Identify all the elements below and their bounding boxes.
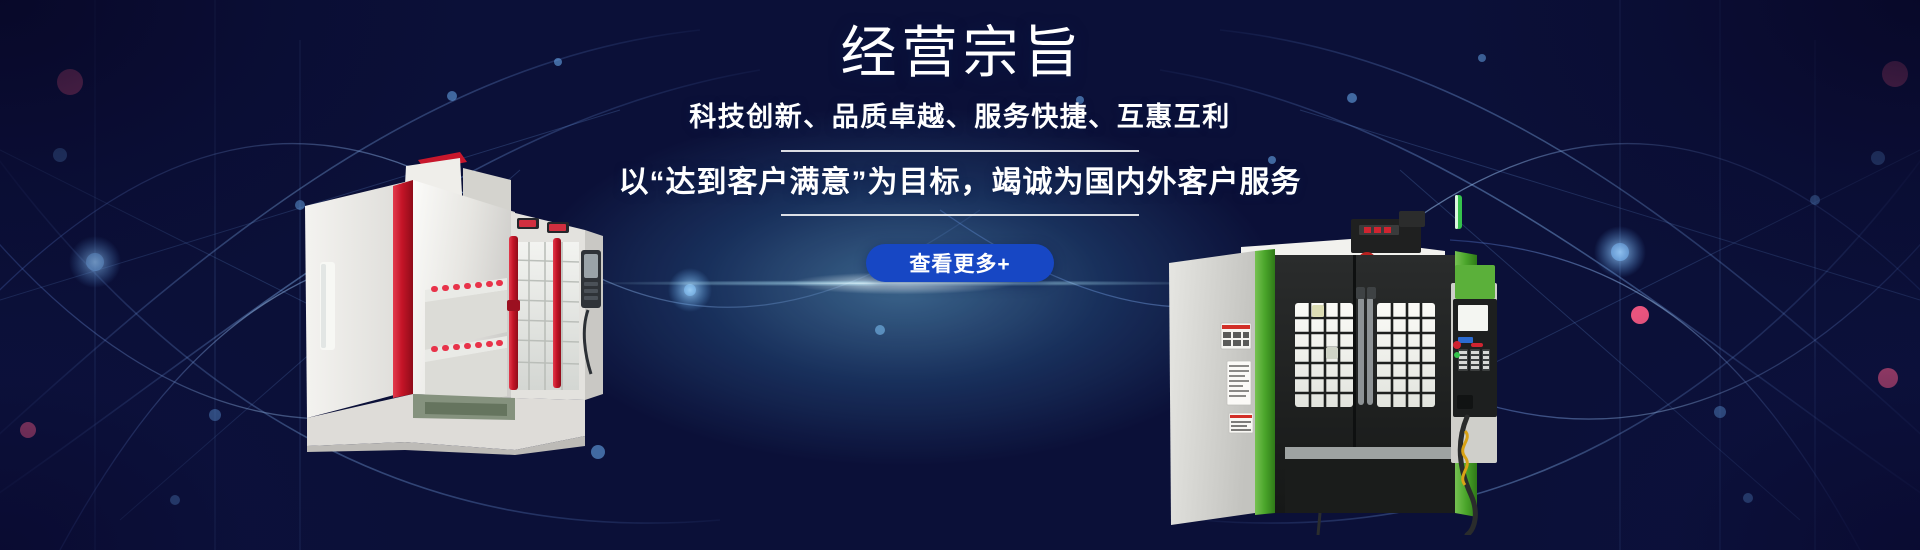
- hero-banner: 经营宗旨 科技创新、品质卓越、服务快捷、互惠互利 以“达到客户满意”为目标，竭诚…: [0, 0, 1920, 550]
- banner-content: 经营宗旨 科技创新、品质卓越、服务快捷、互惠互利 以“达到客户满意”为目标，竭诚…: [0, 22, 1920, 282]
- divider-top: [781, 150, 1139, 152]
- divider-bottom: [781, 214, 1139, 216]
- view-more-button[interactable]: 查看更多+: [866, 244, 1054, 282]
- page-title: 经营宗旨: [836, 22, 1085, 84]
- banner-subtitle: 科技创新、品质卓越、服务快捷、互惠互利: [689, 100, 1231, 134]
- banner-tagline: 以“达到客户满意”为目标，竭诚为国内外客户服务: [619, 164, 1302, 202]
